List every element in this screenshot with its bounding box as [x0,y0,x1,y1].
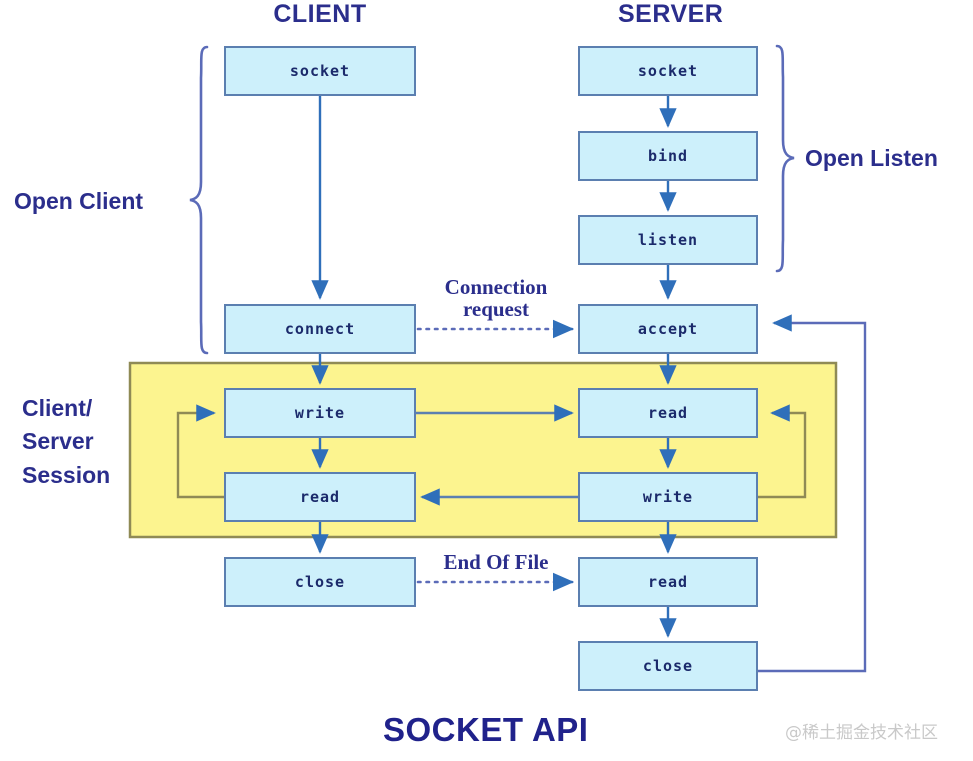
node-server-listen[interactable]: listen [578,215,758,265]
node-label: close [643,657,693,675]
brace-open-client [190,47,207,353]
edge-label-end-of-file: End Of File [416,551,576,573]
node-server-write[interactable]: write [578,472,758,522]
node-server-read-1[interactable]: read [578,388,758,438]
node-label: bind [648,147,688,165]
node-label: read [648,573,688,591]
column-title-server: SERVER [618,0,718,29]
node-label: accept [638,320,698,338]
node-client-close[interactable]: close [224,557,416,607]
node-server-socket[interactable]: socket [578,46,758,96]
brace-open-listen [777,46,794,271]
group-label-open-listen: Open Listen [805,142,938,175]
node-label: socket [638,62,698,80]
node-client-write[interactable]: write [224,388,416,438]
node-server-bind[interactable]: bind [578,131,758,181]
node-client-connect[interactable]: connect [224,304,416,354]
node-label: write [643,488,693,506]
node-label: write [295,404,345,422]
group-label-client-server-session: Client/ Server Session [22,392,110,492]
column-title-client: CLIENT [270,0,370,29]
node-client-read[interactable]: read [224,472,416,522]
node-label: read [648,404,688,422]
node-server-accept[interactable]: accept [578,304,758,354]
node-label: socket [290,62,350,80]
node-label: close [295,573,345,591]
node-label: read [300,488,340,506]
watermark: @稀土掘金技术社区 [785,718,938,743]
node-server-close[interactable]: close [578,641,758,691]
node-label: listen [638,231,698,249]
node-server-read-2[interactable]: read [578,557,758,607]
node-label: connect [285,320,355,338]
group-label-open-client: Open Client [14,185,143,218]
connector-layer [0,0,973,761]
node-client-socket[interactable]: socket [224,46,416,96]
edge-label-connection-request: Connection request [420,276,572,320]
socket-api-diagram: CLIENT SERVER socket connect write read … [0,0,973,761]
footer-title: SOCKET API [383,711,588,749]
